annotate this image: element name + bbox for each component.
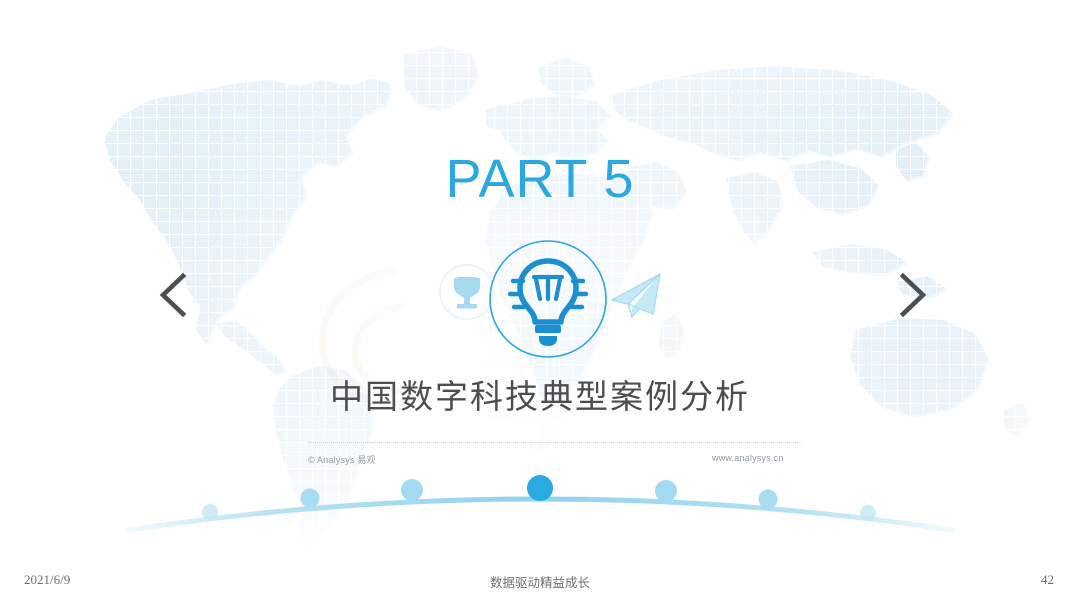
- slide-title: 中国数字科技典型案例分析: [0, 370, 1080, 418]
- prev-chevron-icon[interactable]: [152, 268, 198, 322]
- status-bar: 2021/6/9 数据驱动精益成长 42: [0, 566, 1080, 608]
- status-theme: 数据驱动精益成长: [0, 572, 1080, 591]
- section-progress-arc: [140, 460, 940, 550]
- next-chevron-icon[interactable]: [888, 268, 934, 322]
- paper-plane-icon: [606, 270, 666, 320]
- lightbulb-icon: [486, 237, 610, 361]
- part-label: PART 5: [0, 148, 1080, 210]
- status-page-number: 42: [1041, 572, 1054, 588]
- icon-cluster: [420, 235, 680, 360]
- progress-dots: [202, 475, 876, 521]
- presentation-slide: PART 5: [0, 0, 1080, 608]
- footer-divider: [308, 442, 802, 443]
